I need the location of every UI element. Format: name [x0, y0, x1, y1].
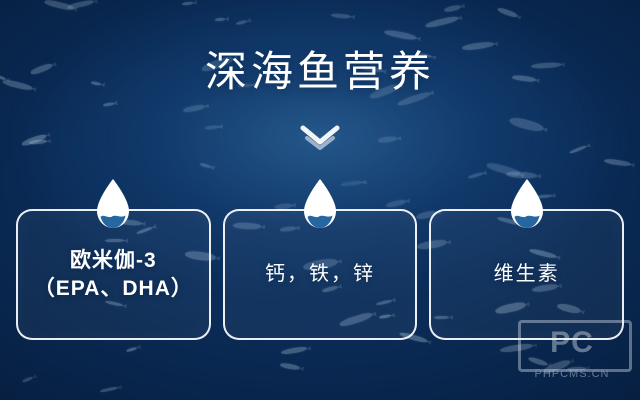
nutrient-card-label: 欧米伽-3 （EPA、DHA） — [28, 247, 199, 302]
water-drop-icon — [298, 177, 342, 233]
nutrient-card-minerals[interactable]: 钙，铁，锌 — [223, 209, 418, 340]
nutrient-card-omega3[interactable]: 欧米伽-3 （EPA、DHA） — [16, 209, 211, 340]
water-drop-icon — [505, 177, 549, 233]
chevron-down-icon — [299, 124, 341, 152]
nutrient-card-label: 维生素 — [488, 261, 566, 287]
phpcms-logo-icon: PC PHPCMS.CN — [518, 320, 630, 388]
watermark-logo-text: PC — [518, 320, 626, 366]
slide-canvas: 深海鱼营养 欧米伽-3 （EPA、DHA） 钙，铁，锌 — [0, 0, 640, 400]
page-title: 深海鱼营养 — [0, 38, 640, 99]
watermark-caption: PHPCMS.CN — [518, 368, 626, 380]
water-drop-icon — [91, 177, 135, 233]
nutrient-card-label: 钙，铁，锌 — [259, 261, 381, 287]
